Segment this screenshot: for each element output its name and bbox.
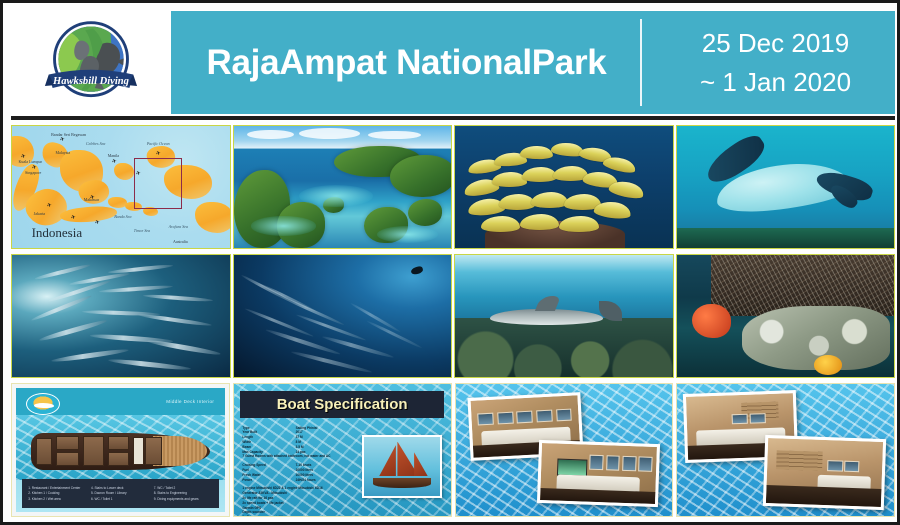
spec-table: Type Sailing Phinisi Year Built 2017 Len… (242, 424, 358, 510)
spec-group-3: 1 engine Mitsubishi 6D22 & 1 engine Mits… (242, 486, 358, 517)
spec-value: 24H/24 hours (296, 478, 358, 483)
legend-item: 8. Stairs to Engineering (154, 491, 213, 495)
cabin-interior-collage (676, 383, 895, 517)
legend-item: 9. Diving equipments and gears (154, 497, 213, 501)
boat-logo-icon (26, 393, 60, 415)
photo-row-2 (11, 254, 895, 378)
barracuda-canvas-1 (12, 255, 230, 377)
photo-grid: Indonesia Pacific Ocean Banda Sea Timor … (11, 125, 895, 517)
header-rule (11, 116, 895, 120)
legend-column-1: 1. Restaurant / Entertainment Center 2. … (28, 486, 87, 501)
hawksbill-diving-logo: Hawksbill Diving (43, 15, 139, 111)
map-country-label: Indonesia (32, 225, 83, 241)
legend-column-3: 7. WC / Toilet 2 8. Stairs to Engineerin… (154, 486, 213, 501)
legend-item: 1. Restaurant / Entertainment Center (28, 486, 87, 490)
photo-barracuda-school-diver (233, 254, 453, 378)
shark-canvas (455, 255, 673, 377)
legend-item: 3. Kitchen 2 / Wet area (28, 497, 87, 501)
phinisi-sailing-boat-photo (362, 435, 442, 499)
date-end: ~ 1 Jan 2020 (700, 67, 851, 98)
scuba-diver-silhouette (410, 266, 424, 276)
boat-hull-outline (31, 433, 211, 470)
photo-row-1: Indonesia Pacific Ocean Banda Sea Timor … (11, 125, 895, 249)
legend-item: 2. Kitchen 1 / Cooking (28, 491, 87, 495)
legend-item: 5. Dacron Room / Library (91, 491, 150, 495)
spec-key: Power (242, 478, 295, 483)
photo-manta-ray (676, 125, 896, 249)
orange-sponge (692, 304, 731, 338)
legend-column-2: 4. Stairs to Lower deck 5. Dacron Room /… (91, 486, 150, 501)
spec-group-2: Cruising Speed 7-10 knots Fuel 10000 lit… (242, 463, 358, 482)
title-container: RajaAmpat NationalPark (171, 11, 642, 114)
reef-canvas (677, 255, 895, 377)
deck-plan-legend: 1. Restaurant / Entertainment Center 2. … (22, 479, 218, 509)
presentation-slide: Hawksbill Diving RajaAmpat NationalPark … (0, 0, 900, 525)
snapper-canvas (455, 126, 673, 248)
spec-row: Power 24H/24 hours (242, 478, 358, 483)
header-divider (640, 19, 642, 106)
spec-group-1: Type Sailing Phinisi Year Built 2017 Len… (242, 426, 358, 460)
photo-row-3: Middle Deck Interior (11, 383, 895, 517)
logo-banner-text: Hawksbill Diving (52, 76, 129, 87)
photo-wobbegong-reef (676, 254, 896, 378)
cabin-desk-photo (763, 435, 887, 510)
date-start: 25 Dec 2019 (702, 28, 849, 59)
spec-header: Boat Specification (240, 391, 444, 419)
logo-container: Hawksbill Diving (11, 11, 171, 114)
date-range-container: 25 Dec 2019 ~ 1 Jan 2020 (642, 11, 895, 114)
aerial-canvas (234, 126, 452, 248)
photo-reef-shark (454, 254, 674, 378)
legend-item: 6. WC / Toilet 1 (91, 497, 150, 501)
map-route-highlight (134, 158, 182, 209)
photo-barracuda-school-light (11, 254, 231, 378)
spec-title: Boat Specification (277, 396, 408, 413)
manta-canvas (677, 126, 895, 248)
photo-indonesia-map: Indonesia Pacific Ocean Banda Sea Timor … (11, 125, 231, 249)
page-title: RajaAmpat NationalPark (207, 43, 607, 83)
deck-plan-caption: Middle Deck Interior (166, 399, 214, 404)
dining-lounge-photo (537, 440, 661, 508)
legend-item: 7. WC / Toilet 2 (154, 486, 213, 490)
boat-specification-panel: Boat Specification Type Sailing Phinisi … (233, 383, 452, 517)
spec-note: 7 Guest Rooms with attached bathroom, ho… (242, 454, 358, 459)
barracuda-canvas-2 (234, 255, 452, 377)
reef-shark-silhouette (490, 309, 603, 325)
yellow-sponge (814, 355, 842, 375)
legend-item: 4. Stairs to Lower deck (91, 486, 150, 490)
spec-equipment-note: 1 engine Mitsubishi 6D22 & 1 engine Mits… (242, 486, 358, 517)
photo-raja-ampat-aerial (233, 125, 453, 249)
salon-lounge-collage (455, 383, 674, 517)
slide-header: Hawksbill Diving RajaAmpat NationalPark … (11, 11, 895, 114)
map-canvas: Indonesia Pacific Ocean Banda Sea Timor … (12, 126, 230, 248)
deck-plan-panel: Middle Deck Interior (11, 383, 230, 517)
photo-snapper-school (454, 125, 674, 249)
